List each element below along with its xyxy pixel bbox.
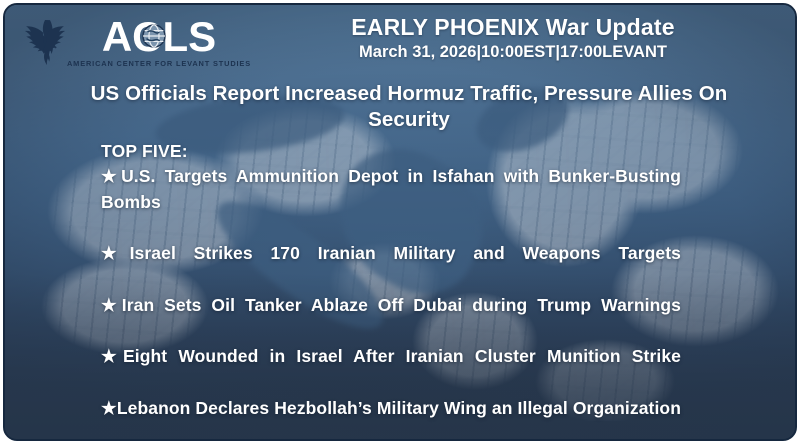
acls-wordmark: ACLS AMERICAN CENTER FOR LEVANT STUDIES: [67, 16, 251, 68]
headline-text: U.S. Targets Ammunition Depot in Isfahan…: [101, 166, 681, 212]
acls-letters: ACLS: [102, 16, 216, 58]
headline-item: ★U.S. Targets Ammunition Depot in Isfaha…: [101, 164, 681, 241]
acls-tagline: AMERICAN CENTER FOR LEVANT STUDIES: [67, 59, 251, 68]
star-bullet-icon: ★: [101, 295, 122, 315]
headlines-block: TOP FIVE: ★U.S. Targets Ammunition Depot…: [101, 139, 681, 441]
logo-letters-ls: LS: [163, 13, 217, 60]
headline-text: Iran Sets Oil Tanker Ablaze Off Dubai du…: [122, 295, 681, 315]
headline-item: ★Iran Sets Oil Tanker Ablaze Off Dubai d…: [101, 293, 681, 344]
logo-letter-a: A: [102, 13, 132, 60]
star-bullet-icon: ★: [101, 398, 117, 418]
star-bullet-icon: ★: [101, 346, 123, 366]
star-bullet-icon: ★: [101, 166, 121, 186]
headline-text: Eight Wounded in Israel After Iranian Cl…: [123, 346, 681, 366]
headline-item: ★Israel Strikes 170 Iranian Military and…: [101, 241, 681, 292]
headline-item: ★Eight Wounded in Israel After Iranian C…: [101, 344, 681, 395]
header-titles: EARLY PHOENIX War Update March 31, 2026|…: [233, 13, 793, 63]
headline-text: Israel Strikes 170 Iranian Military and …: [130, 243, 681, 263]
globe-icon: [142, 24, 166, 48]
acls-logo[interactable]: ACLS AMERICAN CENTER FOR LEVANT STUDIES: [19, 11, 229, 73]
news-card: ACLS AMERICAN CENTER FOR LEVANT STUDIES …: [3, 3, 797, 441]
headline-item: ★Lebanon Declares Hezbollah’s Military W…: [101, 396, 681, 442]
top-five-label: TOP FIVE:: [101, 139, 681, 163]
bulletin-dateline: March 31, 2026|10:00EST|17:00LEVANT: [233, 41, 793, 63]
headline-list: ★U.S. Targets Ammunition Depot in Isfaha…: [101, 164, 681, 441]
headline-text: Lebanon Declares Hezbollah’s Military Wi…: [117, 398, 681, 418]
star-bullet-icon: ★: [101, 243, 130, 263]
header: ACLS AMERICAN CENTER FOR LEVANT STUDIES …: [5, 5, 797, 81]
phoenix-icon: [19, 16, 71, 68]
bulletin-subtitle: US Officials Report Increased Hormuz Tra…: [59, 81, 759, 133]
bulletin-title: EARLY PHOENIX War Update: [233, 13, 793, 41]
slide-canvas: ACLS AMERICAN CENTER FOR LEVANT STUDIES …: [0, 0, 800, 444]
logo-letter-c-slot: C: [132, 16, 162, 58]
